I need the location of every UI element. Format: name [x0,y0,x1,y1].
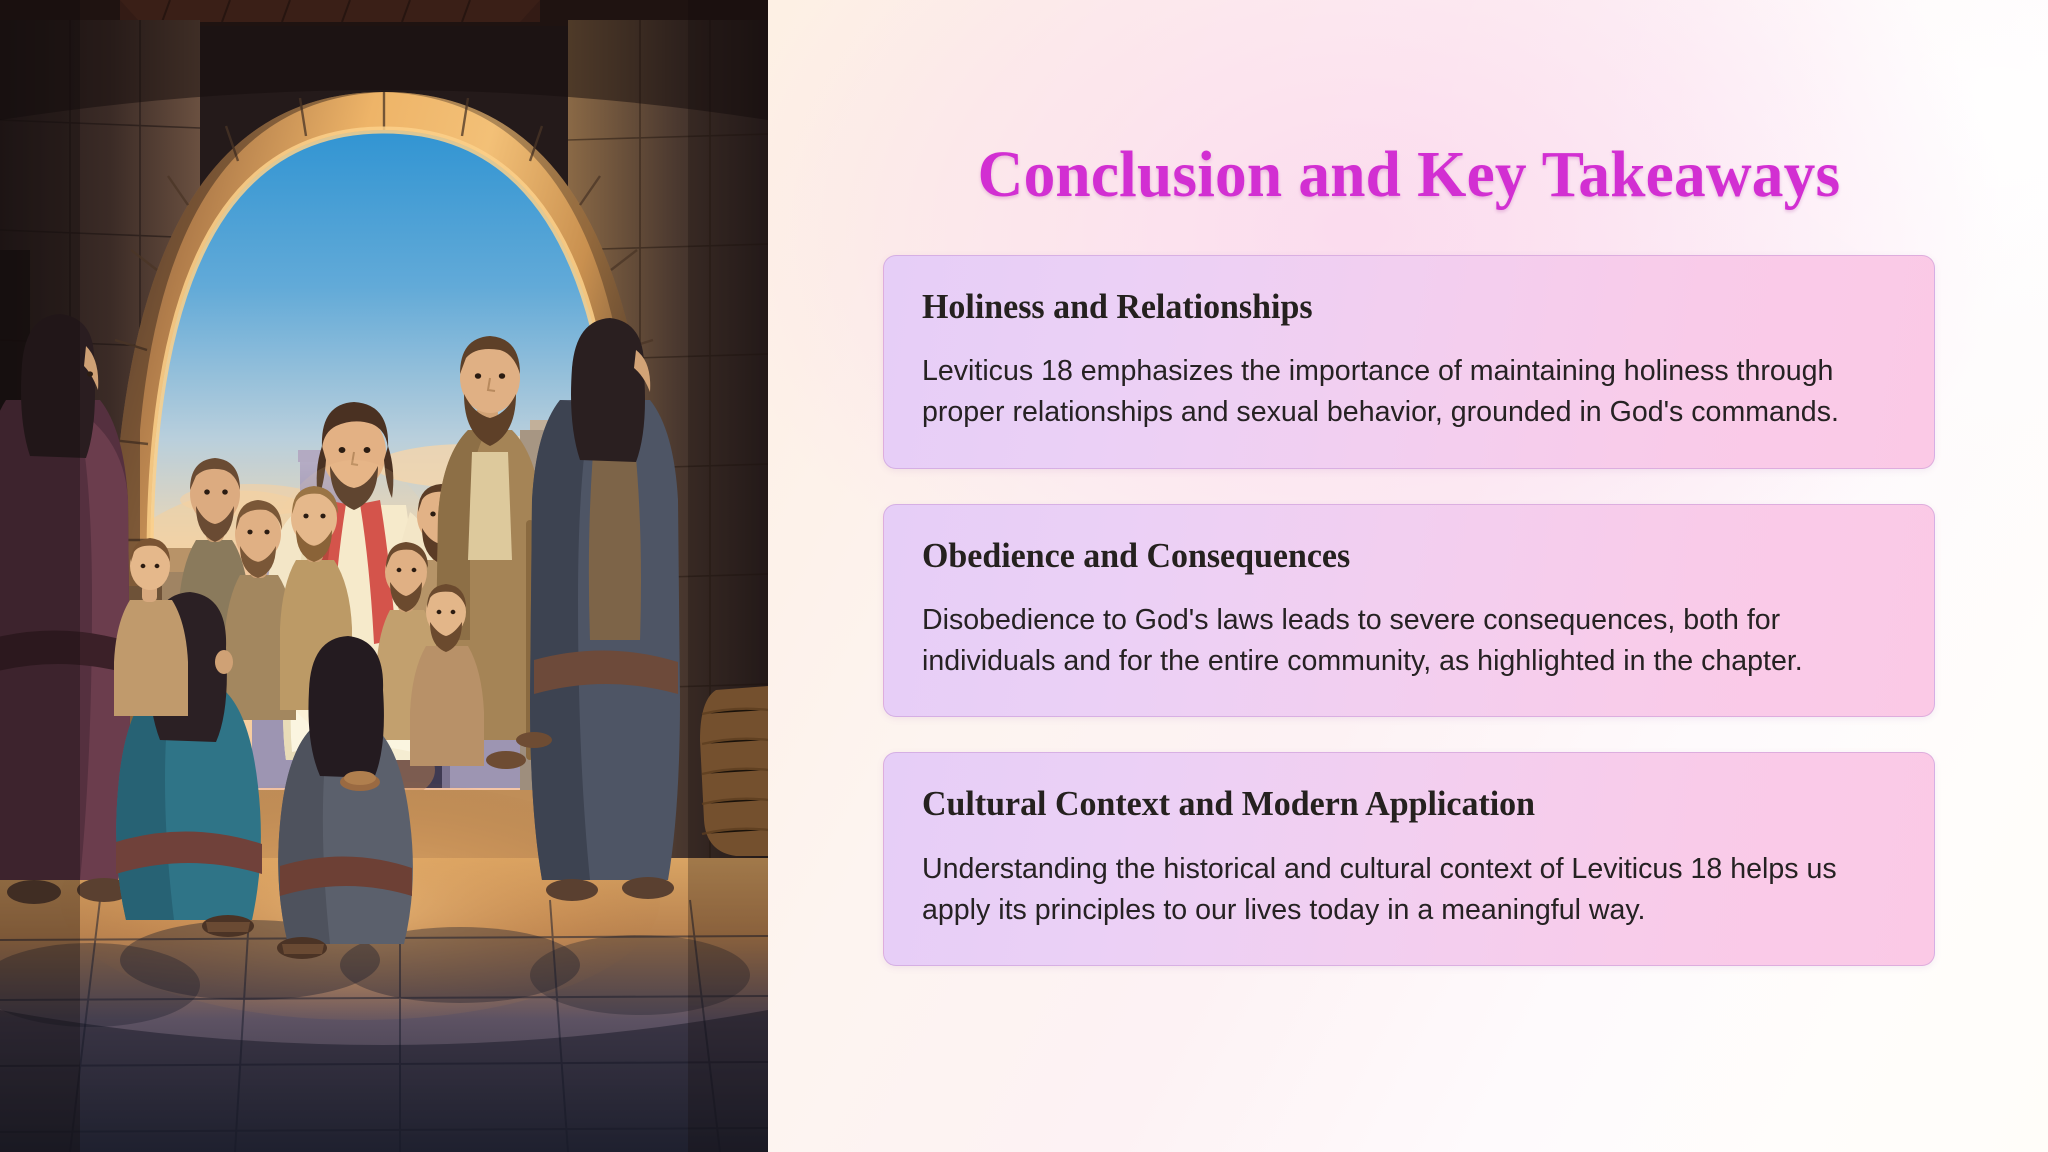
takeaway-card-list: Holiness and Relationships Leviticus 18 … [883,255,1935,966]
takeaway-card-title: Cultural Context and Modern Application [922,783,1867,824]
takeaway-card-body: Leviticus 18 emphasizes the importance o… [922,351,1881,433]
takeaway-card: Cultural Context and Modern Application … [883,752,1935,966]
takeaway-card-title: Holiness and Relationships [922,286,1867,327]
content-inner: Conclusion and Key Takeaways Holiness an… [883,0,1935,1152]
illustration-panel [0,0,768,1152]
page-title: Conclusion and Key Takeaways [904,139,1914,210]
archway-scene-illustration [0,0,768,1152]
takeaway-card-body: Disobedience to God's laws leads to seve… [922,600,1881,682]
takeaway-card: Obedience and Consequences Disobedience … [883,504,1935,718]
takeaway-card-title: Obedience and Consequences [922,535,1867,576]
slide-root: Conclusion and Key Takeaways Holiness an… [0,0,2048,1152]
takeaway-card-body: Understanding the historical and cultura… [922,849,1881,931]
content-panel: Conclusion and Key Takeaways Holiness an… [768,0,2048,1152]
takeaway-card: Holiness and Relationships Leviticus 18 … [883,255,1935,469]
